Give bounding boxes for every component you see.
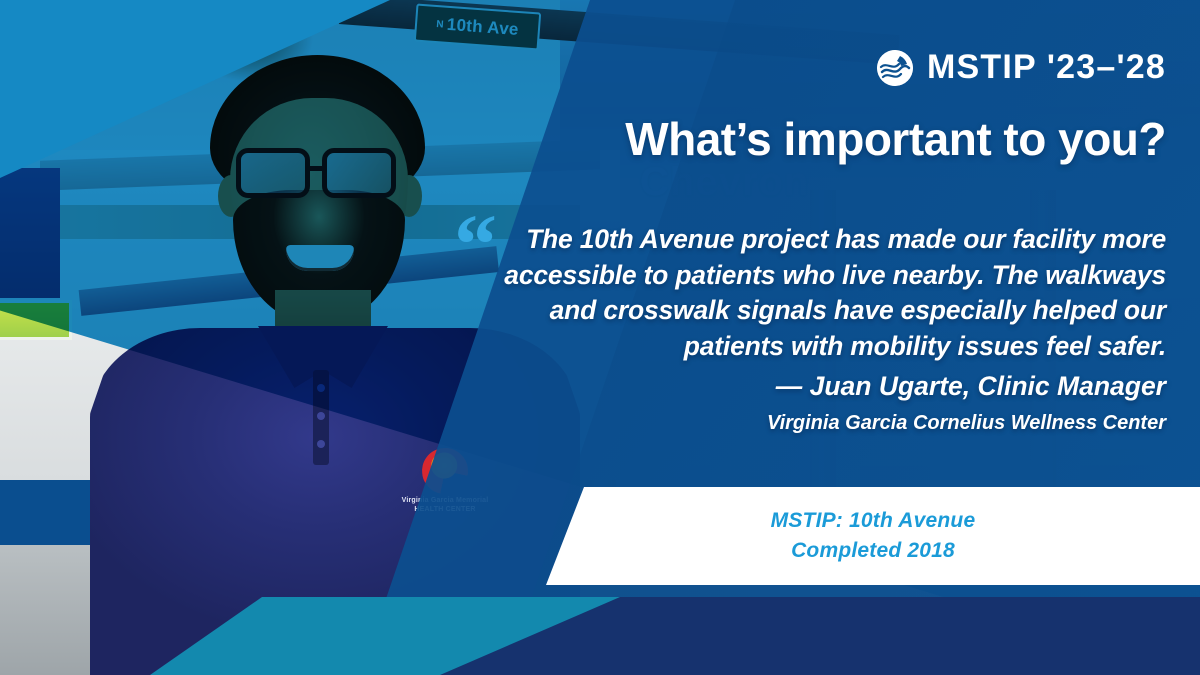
mstip-testimonial-graphic: N 10th Ave Chevron Virginia [0, 0, 1200, 675]
caption-project-status: Completed 2018 [791, 539, 955, 563]
quote-attribution: — Juan Ugarte, Clinic Manager [488, 371, 1166, 402]
brand-title: MSTIP '23–'28 [927, 48, 1166, 87]
quote-text: The 10th Avenue project has made our fac… [488, 222, 1166, 364]
page-title: What’s important to you? [625, 112, 1166, 166]
caption-project-name: MSTIP: 10th Avenue [771, 509, 976, 533]
testimonial-quote: “ The 10th Avenue project has made our f… [488, 222, 1166, 435]
washington-county-seal-icon [877, 50, 913, 86]
quote-organization: Virginia Garcia Cornelius Wellness Cente… [488, 412, 1166, 435]
shirt-button [317, 440, 325, 448]
shirt-button [317, 412, 325, 420]
brand-lockup: MSTIP '23–'28 [877, 48, 1166, 87]
open-quote-icon: “ [454, 214, 497, 274]
project-caption-box: MSTIP: 10th Avenue Completed 2018 [546, 487, 1200, 585]
